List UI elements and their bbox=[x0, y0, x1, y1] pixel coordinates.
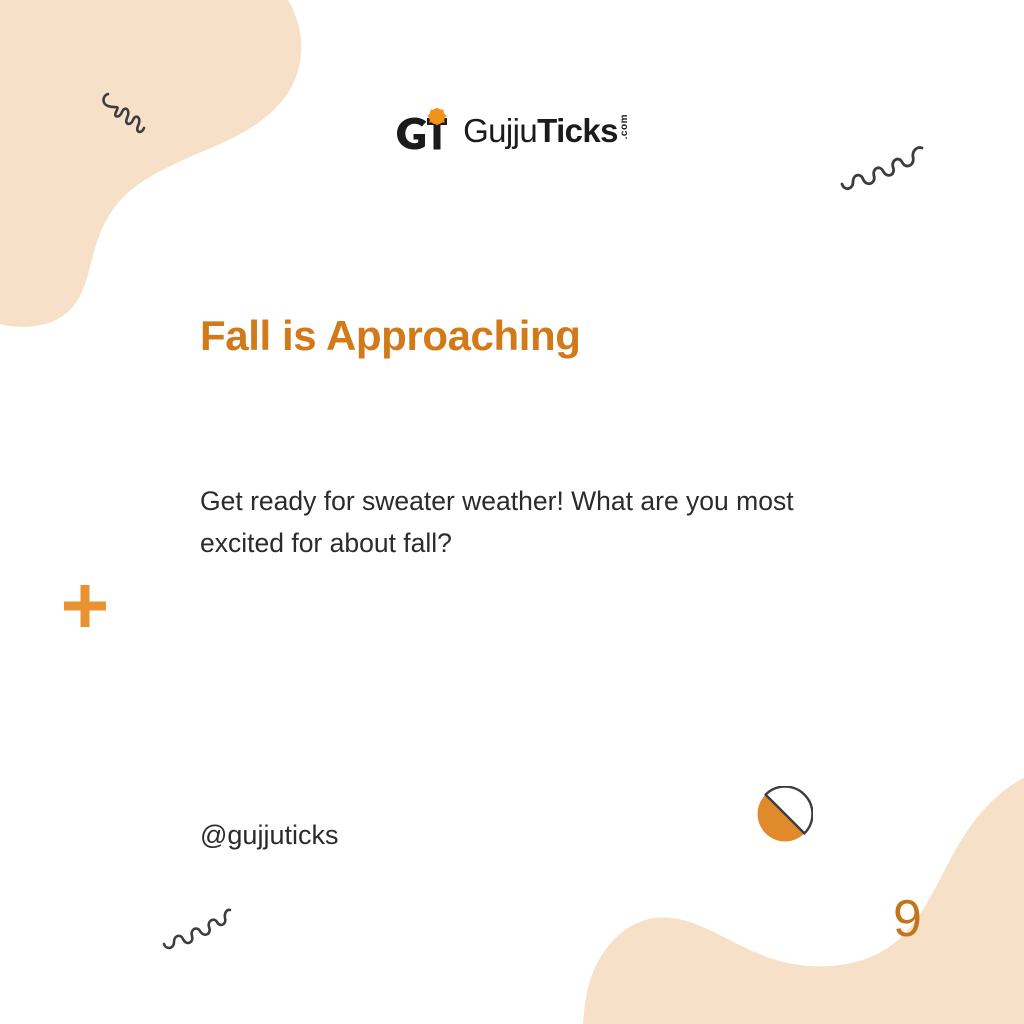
brand-logo: Gujju Ticks .com bbox=[0, 108, 1024, 154]
brand-tld: .com bbox=[620, 114, 630, 139]
page-number: 9 bbox=[893, 893, 922, 945]
social-post-canvas: Gujju Ticks .com Fall is Approaching Get… bbox=[0, 0, 1024, 1024]
brand-wordmark: Gujju Ticks .com bbox=[463, 108, 630, 154]
half-circle-icon bbox=[757, 786, 813, 842]
gt-monogram-icon bbox=[394, 108, 450, 154]
plus-icon bbox=[64, 585, 106, 627]
blob-top-left-shape bbox=[0, 0, 301, 327]
body-text: Get ready for sweater weather! What are … bbox=[200, 480, 820, 564]
social-handle: @gujjuticks bbox=[200, 820, 338, 851]
page-title: Fall is Approaching bbox=[200, 312, 581, 360]
brand-name-light: Gujju bbox=[463, 108, 537, 154]
blob-bottom-right-shape bbox=[582, 760, 1024, 1024]
brand-name-bold: Ticks bbox=[537, 108, 618, 154]
squiggle-icon-bottom-left bbox=[160, 896, 232, 954]
